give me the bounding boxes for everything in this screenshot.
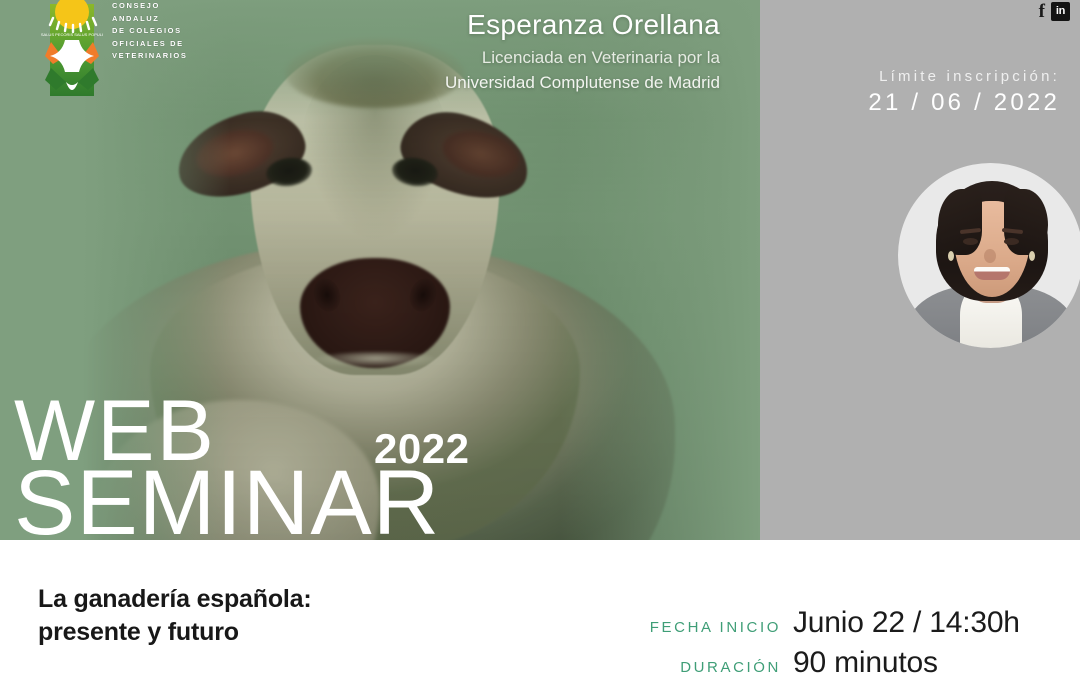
bottom-info-bar: La ganadería española: presente y futuro… — [0, 540, 1080, 675]
deadline-date: 21 / 06 / 2022 — [868, 86, 1060, 120]
talk-title-line-1: La ganadería española: — [38, 583, 311, 616]
logo-line-1: CONSEJO — [112, 2, 187, 10]
event-details: FECHA INICIO Junio 22 / 14:30h DURACIÓN … — [646, 606, 1020, 675]
deadline-label: Límite inscripción: — [868, 68, 1060, 86]
speaker-name: Esperanza Orellana — [300, 8, 720, 42]
detail-row-start-date: FECHA INICIO Junio 22 / 14:30h — [646, 606, 1020, 640]
talk-title: La ganadería española: presente y futuro — [38, 583, 311, 650]
organization-logo[interactable]: SALUS PECORIS SALUS POPULI CONSEJO ANDAL… — [36, 0, 186, 110]
talk-title-line-2: presente y futuro — [38, 616, 311, 649]
portrait-left-eye — [963, 238, 978, 245]
green-hero-panel: SALUS PECORIS SALUS POPULI CONSEJO ANDAL… — [0, 0, 760, 540]
logo-line-2: ANDALUZ — [112, 15, 187, 23]
sun-cross-veterinary-logo-icon: SALUS PECORIS SALUS POPULI — [36, 0, 108, 106]
event-title-line-2: SEMINAR — [14, 463, 440, 540]
logo-wordmark: CONSEJO ANDALUZ DE COLEGIOS OFICIALES DE… — [112, 0, 187, 60]
registration-deadline: Límite inscripción: 21 / 06 / 2022 — [868, 68, 1060, 120]
start-date-value: Junio 22 / 14:30h — [793, 606, 1020, 640]
portrait-hair-right — [1004, 189, 1048, 255]
facebook-icon[interactable]: f — [1037, 2, 1047, 21]
webinar-poster: SALUS PECORIS SALUS POPULI CONSEJO ANDAL… — [0, 0, 1080, 675]
portrait-hair-left — [938, 189, 982, 255]
linkedin-icon[interactable]: in — [1051, 2, 1070, 21]
portrait-left-earring — [948, 251, 954, 261]
logo-line-3: DE COLEGIOS — [112, 27, 187, 35]
portrait-right-earring — [1029, 251, 1035, 261]
speaker-info: Esperanza Orellana Licenciada en Veterin… — [300, 8, 720, 95]
logo-line-5: VETERINARIOS — [112, 52, 187, 60]
event-year: 2022 — [374, 428, 469, 470]
duration-value: 90 minutos — [793, 646, 938, 675]
speaker-credential-line-2: Universidad Complutense de Madrid — [300, 71, 720, 96]
portrait-right-eye — [1004, 238, 1019, 245]
social-links: f in — [1037, 2, 1070, 21]
detail-row-duration: DURACIÓN 90 minutos — [646, 646, 1020, 675]
start-date-label: FECHA INICIO — [646, 619, 781, 636]
speaker-portrait — [898, 163, 1080, 348]
portrait-nose — [984, 249, 996, 263]
logo-line-4: OFICIALES DE — [112, 40, 187, 48]
svg-text:SALUS PECORIS SALUS POPULI: SALUS PECORIS SALUS POPULI — [41, 32, 103, 37]
speaker-credential-line-1: Licenciada en Veterinaria por la — [300, 46, 720, 71]
duration-label: DURACIÓN — [646, 659, 781, 675]
portrait-smile — [974, 267, 1010, 280]
